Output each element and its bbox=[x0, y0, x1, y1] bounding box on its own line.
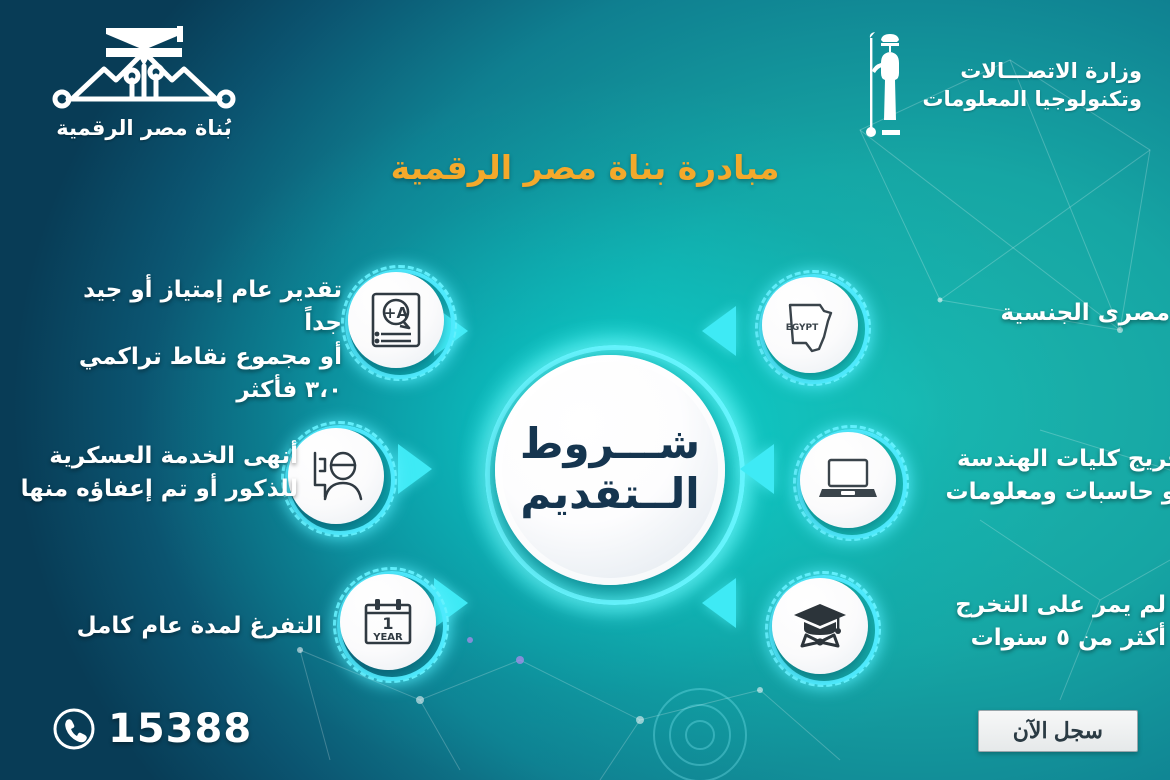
hub-disc: شـــروط الــتقديم bbox=[495, 355, 725, 585]
svg-text:1: 1 bbox=[382, 614, 393, 633]
ministry-line-1: وزارة الاتصـــالات bbox=[922, 57, 1142, 85]
label-graduation: لم يمر على التخرج أكثر من ٥ سنوات bbox=[896, 589, 1166, 656]
grade-report-a-plus-icon: A+ bbox=[348, 272, 444, 368]
label-grade-line-1: تقدير عام إمتياز أو جيد جداً bbox=[62, 274, 342, 341]
label-grade: تقدير عام إمتياز أو جيد جداً أو مجموع نق… bbox=[62, 274, 342, 407]
node-fulltime[interactable]: 1 YEAR bbox=[340, 574, 436, 670]
ministry-line-2: وتكنولوجيا المعلومات bbox=[922, 85, 1142, 113]
label-fulltime-line-1: التفرغ لمدة عام كامل bbox=[32, 610, 322, 643]
label-fulltime: التفرغ لمدة عام كامل bbox=[32, 610, 322, 643]
node-military[interactable] bbox=[288, 428, 384, 524]
register-now-button[interactable]: سجل الآن bbox=[978, 710, 1138, 752]
label-nationality-line-1: مصرى الجنسية bbox=[880, 297, 1170, 330]
label-grade-line-2: أو مجموع نقاط تراكمي bbox=[62, 341, 342, 374]
label-military-line-2: للذكور أو تم إعفاؤه منها bbox=[0, 473, 298, 506]
label-faculty-line-2: أو حاسبات ومعلومات bbox=[934, 476, 1170, 509]
hotline-number: 15388 bbox=[108, 706, 252, 752]
node-grade[interactable]: A+ bbox=[348, 272, 444, 368]
pharaonic-scribe-figure-icon bbox=[848, 30, 912, 140]
arrow-to-hub-nationality bbox=[702, 306, 736, 356]
page-title: مبادرة بناة مصر الرقمية bbox=[0, 148, 1170, 187]
label-faculty-line-1: خريج كليات الهندسة bbox=[934, 443, 1170, 476]
hotline[interactable]: 15388 bbox=[52, 706, 252, 752]
hub-title-line-2: الــتقديم bbox=[520, 470, 699, 518]
label-grade-line-3: ٣،٠ فأكثر bbox=[62, 374, 342, 407]
digital-egypt-builders-logo: بُناة مصر الرقمية bbox=[44, 14, 244, 154]
svg-text:YEAR: YEAR bbox=[372, 632, 403, 643]
center-hub: شـــروط الــتقديم bbox=[495, 355, 725, 585]
label-faculty: خريج كليات الهندسة أو حاسبات ومعلومات bbox=[934, 443, 1170, 510]
left-logo-label: بُناة مصر الرقمية bbox=[44, 116, 244, 140]
infographic-poster: بُناة مصر الرقمية وزارة الاتصـــالات وتك… bbox=[0, 0, 1170, 780]
node-graduation[interactable] bbox=[772, 578, 868, 674]
calendar-one-year-icon: 1 YEAR bbox=[340, 574, 436, 670]
hub-title-line-1: شـــروط bbox=[520, 422, 700, 466]
egypt-map-icon: EGYPT bbox=[762, 277, 858, 373]
node-nationality[interactable]: EGYPT bbox=[762, 277, 858, 373]
label-military: أنهى الخدمة العسكرية للذكور أو تم إعفاؤه… bbox=[0, 440, 298, 507]
arrow-to-hub-military bbox=[398, 444, 432, 494]
soldier-rifle-icon bbox=[288, 428, 384, 524]
label-nationality: مصرى الجنسية bbox=[880, 297, 1170, 330]
node-faculty[interactable] bbox=[800, 432, 896, 528]
mcit-logo: وزارة الاتصـــالات وتكنولوجيا المعلومات bbox=[848, 30, 1142, 140]
label-military-line-1: أنهى الخدمة العسكرية bbox=[0, 440, 298, 473]
laptop-icon bbox=[800, 432, 896, 528]
graduation-cap-diploma-icon bbox=[772, 578, 868, 674]
arrow-to-hub-graduation bbox=[702, 578, 736, 628]
egypt-map-caption: EGYPT bbox=[786, 323, 819, 333]
label-graduation-line-2: أكثر من ٥ سنوات bbox=[896, 622, 1166, 655]
graduation-cap-pyramid-circuit-logo-icon bbox=[44, 14, 244, 114]
phone-circle-icon bbox=[52, 707, 96, 751]
label-graduation-line-1: لم يمر على التخرج bbox=[896, 589, 1166, 622]
svg-text:A+: A+ bbox=[384, 304, 409, 322]
arrow-to-hub-faculty bbox=[740, 444, 774, 494]
